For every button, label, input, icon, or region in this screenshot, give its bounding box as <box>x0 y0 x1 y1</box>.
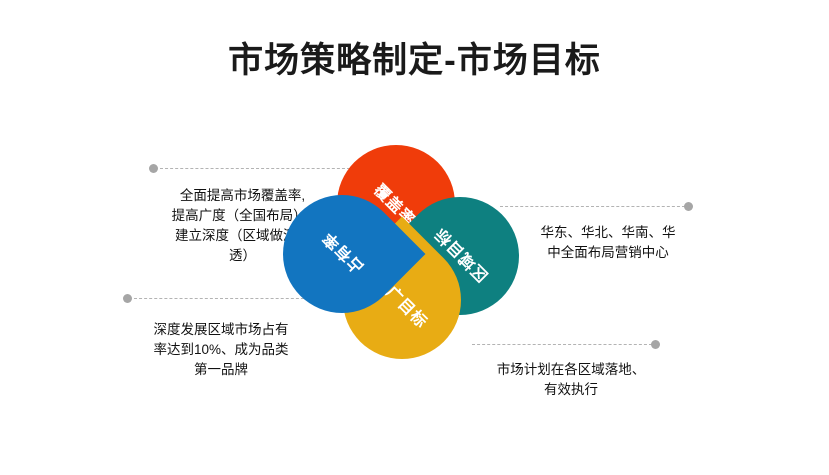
connector-dot-share <box>123 294 132 303</box>
connector-dot-promotion <box>651 340 660 349</box>
caption-region-line-2: 中全面布局营销中心 <box>520 243 696 263</box>
slide-canvas: 市场策略制定-市场目标 全面提高市场覆盖率, 提高广度（全国布局）、 建立深度（… <box>0 0 829 475</box>
caption-promotion-target: 市场计划在各区域落地、 有效执行 <box>478 360 664 400</box>
caption-promotion-line-2: 有效执行 <box>478 380 664 400</box>
connector-line-share <box>134 298 309 299</box>
caption-region-line-1: 华东、华北、华南、华 <box>520 223 696 243</box>
caption-share-line-3: 第一品牌 <box>126 360 316 380</box>
caption-region-target: 华东、华北、华南、华 中全面布局营销中心 <box>520 223 696 263</box>
connector-dot-region <box>684 202 693 211</box>
page-title: 市场策略制定-市场目标 <box>0 40 829 82</box>
pinwheel-diagram: 覆盖率 区域目标 推广目标 占有率 <box>285 145 530 360</box>
caption-promotion-line-1: 市场计划在各区域落地、 <box>478 360 664 380</box>
connector-dot-coverage <box>149 164 158 173</box>
